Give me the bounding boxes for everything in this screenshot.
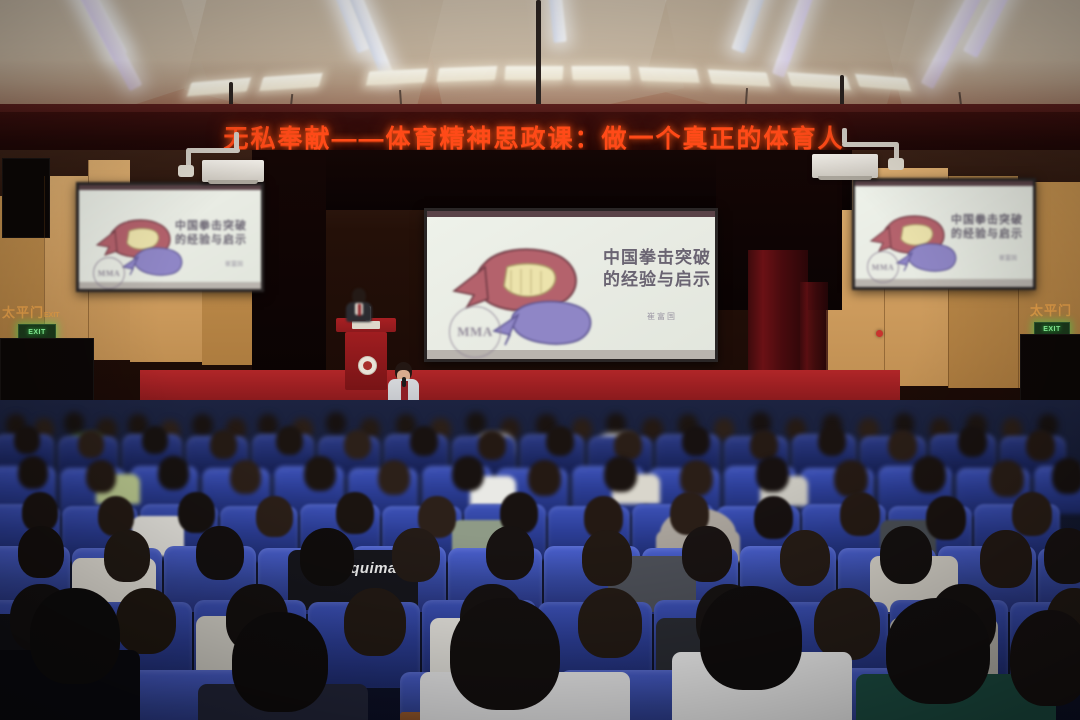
mma-logo: MMA: [93, 257, 125, 289]
exit-cn-left: 太平门: [2, 305, 44, 320]
side-projection-screen-right: MMA 中国拳击突破 的经验与启示 崔富国: [852, 178, 1036, 290]
screen-surface-left: MMA 中国拳击突破 的经验与启示 崔富国: [79, 185, 261, 289]
screen-surface-main: MMA 中国拳击突破 的经验与启示 崔富国: [427, 211, 715, 359]
mma-logo: MMA: [449, 306, 501, 358]
slide-title-line2: 的经验与启示: [951, 227, 1023, 241]
slide-author-main: 崔富国: [647, 311, 677, 322]
slide-title-line2: 的经验与启示: [603, 269, 711, 291]
exit-glow-left: EXIT: [28, 329, 46, 336]
exit-en-left: EXIT: [44, 312, 60, 319]
microphone[interactable]: [402, 377, 406, 387]
ceiling-hanging-rod: [536, 0, 541, 118]
ceiling-downlight: [505, 66, 564, 80]
podium-emblem: [358, 356, 377, 375]
ceiling-downlight: [571, 66, 630, 80]
exit-glow-right: EXIT: [1043, 326, 1061, 333]
slide-author-left: 崔富国: [225, 259, 243, 268]
screen-surface-right: MMA 中国拳击突破 的经验与启示 崔富国: [855, 181, 1033, 287]
auditorium-photo: 无私奉献——体育精神思政课：做一个真正的体育人: [0, 0, 1080, 720]
slide-title-main: 中国拳击突破 的经验与启示: [603, 247, 711, 291]
acoustic-panel-left: [2, 158, 50, 238]
ceiling-downlight: [638, 67, 699, 83]
wall-alarm-button[interactable]: [876, 330, 883, 337]
slide-title-line1: 中国拳击突破: [951, 213, 1023, 227]
mma-logo: MMA: [867, 251, 899, 283]
podium-nameplate: [352, 321, 380, 329]
ceiling-projector-right: [802, 128, 912, 186]
slide-title-line1: 中国拳击突破: [603, 247, 711, 269]
main-projection-screen: MMA 中国拳击突破 的经验与启示 崔富国: [424, 208, 718, 362]
exit-sign-left-text: 太平门EXIT: [2, 302, 60, 321]
speaker-podium: [336, 318, 396, 398]
ceiling: [0, 0, 1080, 118]
boxing-glove-purple-icon: [121, 243, 189, 281]
ceiling-downlight: [437, 66, 498, 82]
slide-title-line2: 的经验与启示: [175, 233, 247, 247]
slide-author-right: 崔富国: [999, 253, 1017, 262]
boxing-glove-purple-icon: [895, 239, 963, 277]
exit-sign-right: 太平门 EXIT: [1030, 300, 1072, 334]
exit-cn-right: 太平门: [1030, 303, 1072, 318]
side-projection-screen-left: MMA 中国拳击突破 的经验与启示 崔富国: [76, 182, 264, 292]
slide-title-right: 中国拳击突破 的经验与启示: [951, 213, 1023, 241]
slide-title-line1: 中国拳击突破: [175, 219, 247, 233]
slide-title-left: 中国拳击突破 的经验与启示: [175, 219, 247, 247]
ceiling-projector-left: [168, 132, 272, 188]
audience-area: mlssquima: [0, 400, 1080, 720]
exit-sign-right-text: 太平门: [1030, 300, 1072, 319]
boxing-glove-purple-icon: [491, 295, 603, 353]
exit-sign-left: 太平门EXIT EXIT: [2, 302, 60, 337]
